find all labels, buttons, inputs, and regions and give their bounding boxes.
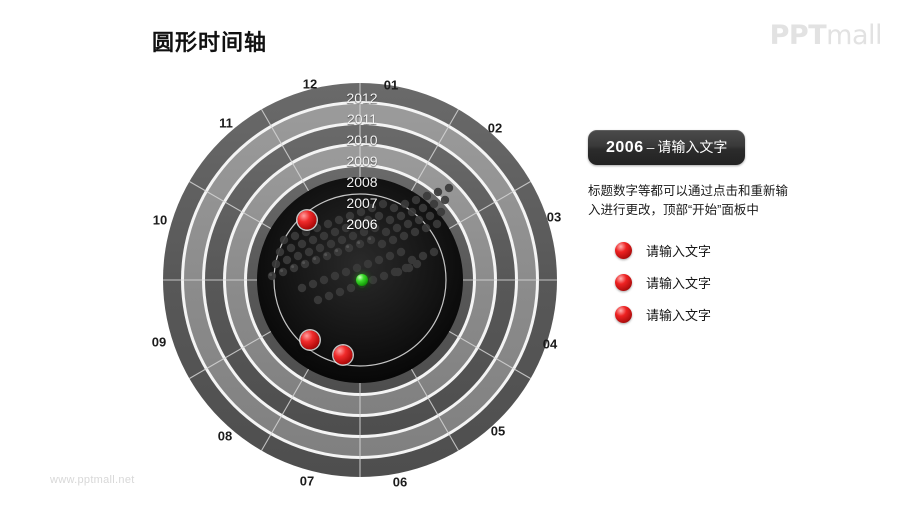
badge-year-text: 2006 — [606, 139, 644, 156]
page-title: 圆形时间轴 — [152, 25, 267, 57]
hour-label-04: 04 — [543, 337, 557, 352]
marker-red-1[interactable] — [298, 211, 317, 230]
hour-label-07: 07 — [300, 474, 314, 489]
hour-label-10: 10 — [153, 213, 167, 228]
watermark-url: www.pptmall.net — [50, 474, 135, 486]
year-label-2008: 2008 — [346, 174, 377, 190]
bullet-list: 请输入文字 请输入文字 请输入文字 — [588, 237, 878, 329]
hour-label-01: 01 — [384, 78, 398, 93]
badge-label-text: 请输入文字 — [657, 139, 727, 155]
bullet-label: 请输入文字 — [646, 273, 711, 292]
bullet-label: 请输入文字 — [646, 305, 711, 324]
bullet-label: 请输入文字 — [646, 241, 711, 260]
year-label-2006: 2006 — [346, 216, 377, 232]
marker-red-2[interactable] — [301, 331, 320, 350]
hour-label-12: 12 — [303, 77, 317, 92]
hour-label-02: 02 — [488, 121, 502, 136]
hour-label-03: 03 — [547, 210, 561, 225]
pptmall-logo: PPTmall — [770, 20, 882, 51]
list-item[interactable]: 请输入文字 — [588, 237, 878, 265]
detail-panel: 2006–请输入文字 标题数字等都可以通过点击和重新输入进行更改，顶部“开始”面… — [588, 130, 878, 333]
year-label-2011: 2011 — [347, 111, 377, 127]
year-label-2012: 2012 — [346, 90, 377, 106]
hour-label-08: 08 — [218, 429, 232, 444]
badge-separator: – — [644, 139, 658, 155]
red-sphere-icon — [615, 306, 632, 323]
logo-text-mall: mall — [826, 20, 882, 51]
logo-text-ppt: PPT — [770, 20, 827, 51]
red-sphere-icon — [615, 242, 632, 259]
marker-red-3[interactable] — [334, 346, 353, 365]
hour-label-11: 11 — [219, 116, 233, 131]
year-label-2007: 2007 — [346, 195, 377, 211]
list-item[interactable]: 请输入文字 — [588, 269, 878, 297]
hour-label-09: 09 — [152, 335, 166, 350]
marker-green[interactable] — [356, 274, 368, 286]
hour-label-06: 06 — [393, 475, 407, 490]
circular-timeline-graphic: 01 02 03 04 05 06 07 08 09 10 11 12 2012… — [150, 72, 570, 492]
year-label-2010: 2010 — [346, 132, 377, 148]
hour-label-05: 05 — [491, 424, 505, 439]
panel-body-text: 标题数字等都可以通过点击和重新输入进行更改，顶部“开始”面板中 — [588, 182, 793, 221]
list-item[interactable]: 请输入文字 — [588, 301, 878, 329]
year-badge[interactable]: 2006–请输入文字 — [588, 130, 745, 165]
red-sphere-icon — [615, 274, 632, 291]
year-label-2009: 2009 — [346, 153, 377, 169]
